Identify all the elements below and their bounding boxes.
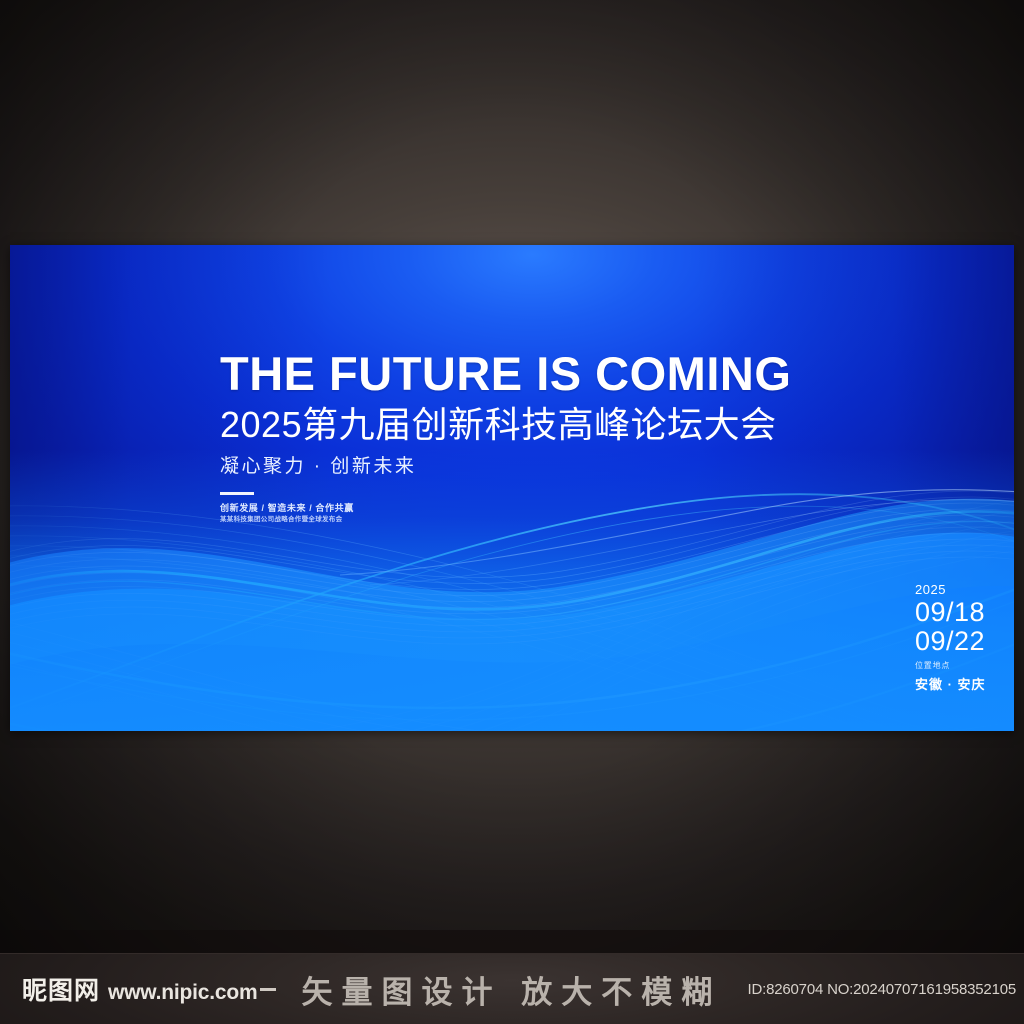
nipic-logo[interactable]: 昵图网 www.nipic.com xyxy=(22,971,258,1007)
divider-rule xyxy=(220,492,254,495)
poster-tagline: 凝心聚力 · 创新未来 xyxy=(220,457,840,476)
screenshot-canvas: THE FUTURE IS COMING 2025第九届创新科技高峰论坛大会 凝… xyxy=(0,0,1024,1024)
event-start-date: 09/18 xyxy=(915,598,1014,627)
poster-subtitle: 2025第九届创新科技高峰论坛大会 xyxy=(220,406,840,444)
nipic-logo-url: www.nipic.com xyxy=(108,981,257,1005)
watermark-bar: 昵图网 www.nipic.com 矢量图设计 放大不模糊 ID:8260704… xyxy=(0,953,1024,1024)
watermark-dash-icon xyxy=(260,988,276,991)
watermark-slogan: 矢量图设计 放大不模糊 xyxy=(302,967,722,1012)
poster-kicker: 创新发展 / 智造未来 / 合作共赢 xyxy=(220,503,840,514)
watermark-id-text: ID:8260704 NO:20240707161958352105 xyxy=(748,981,1016,998)
poster-text-block: THE FUTURE IS COMING 2025第九届创新科技高峰论坛大会 凝… xyxy=(220,350,840,524)
event-end-date: 09/22 xyxy=(915,627,1014,656)
event-place-value: 安徽 · 安庆 xyxy=(915,678,1014,691)
event-year: 2025 xyxy=(915,583,1014,596)
event-date-block: 2025 09/18 09/22 位置地点 安徽 · 安庆 xyxy=(915,583,1014,691)
poster-headline: THE FUTURE IS COMING xyxy=(220,350,840,397)
poster-kicker-sub: 某某科技集团公司战略合作暨全球发布会 xyxy=(220,516,840,524)
event-place-label: 位置地点 xyxy=(915,662,1014,670)
nipic-logo-cn: 昵图网 xyxy=(22,971,100,1007)
conference-poster: THE FUTURE IS COMING 2025第九届创新科技高峰论坛大会 凝… xyxy=(10,245,1014,731)
